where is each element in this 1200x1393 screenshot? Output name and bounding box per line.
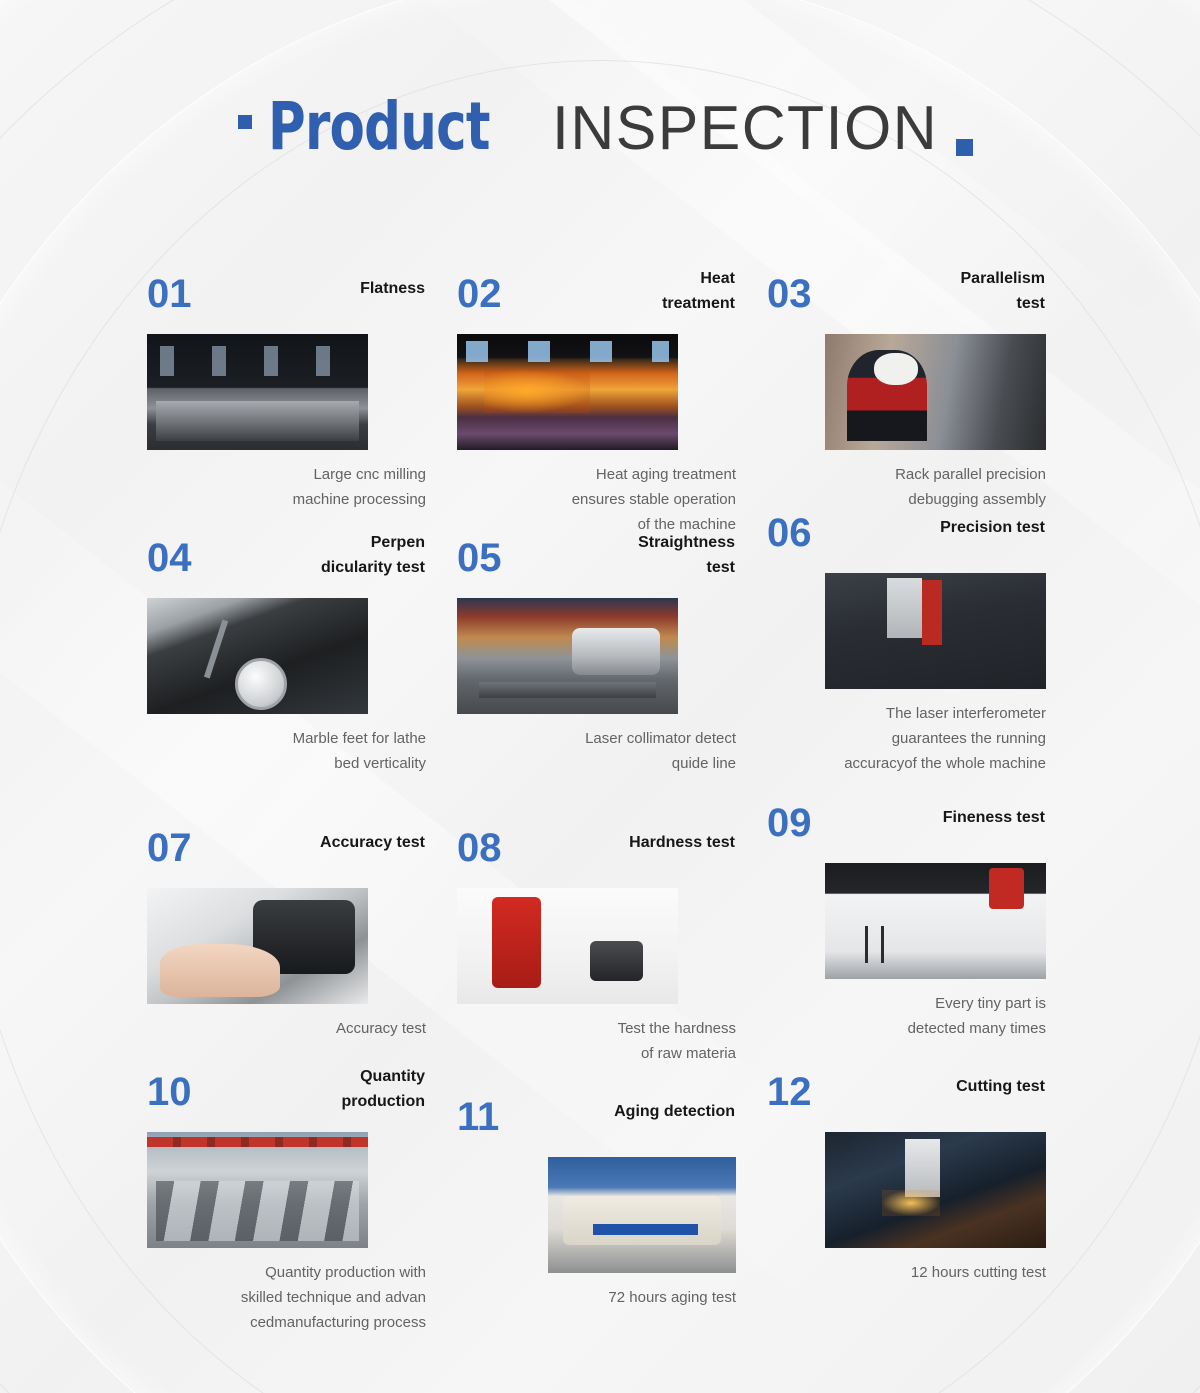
card-number: 03: [767, 272, 812, 316]
card-caption: 12 hours cutting test: [816, 1248, 1046, 1285]
card-caption: Marble feet for lathe bed verticality: [196, 714, 426, 776]
card-header: 04 Perpen dicularity test: [135, 536, 445, 598]
card-title: Hardness test: [545, 830, 735, 855]
inspection-card[interactable]: 06 Precision test The laser interferomet…: [755, 511, 1065, 776]
page-title: Product INSPECTION: [232, 92, 973, 162]
card-header: 01 Flatness: [135, 272, 445, 334]
card-header: 11 Aging detection: [445, 1095, 755, 1157]
card-photo[interactable]: [825, 1132, 1046, 1248]
card-caption: The laser interferometer guarantees the …: [816, 689, 1046, 776]
inspection-card[interactable]: 02 Heat treatment Heat aging treatment e…: [445, 272, 755, 537]
title-thin-word: INSPECTION: [552, 96, 938, 162]
card-number: 10: [147, 1070, 192, 1114]
inspection-card[interactable]: 04 Perpen dicularity test Marble feet fo…: [135, 536, 445, 776]
card-number: 12: [767, 1070, 812, 1114]
card-title: Precision test: [855, 515, 1045, 540]
card-caption: Heat aging treatment ensures stable oper…: [506, 450, 736, 537]
inspection-card-grid: 01 Flatness Large cnc milling machine pr…: [0, 272, 1200, 1335]
card-title: Quantity production: [235, 1064, 425, 1114]
page-header: Product INSPECTION: [0, 0, 1200, 250]
card-title: Fineness test: [855, 805, 1045, 830]
card-title: Accuracy test: [235, 830, 425, 855]
grid-column-2: 02 Heat treatment Heat aging treatment e…: [445, 272, 755, 1335]
card-title: Straightness test: [545, 530, 735, 580]
card-number: 05: [457, 536, 502, 580]
card-caption: Rack parallel precision debugging assemb…: [816, 450, 1046, 512]
card-title: Cutting test: [855, 1074, 1045, 1099]
card-number: 02: [457, 272, 502, 316]
card-header: 03 Parallelism test: [755, 272, 1065, 334]
inspection-card[interactable]: 12 Cutting test 12 hours cutting test: [755, 1070, 1065, 1285]
card-title: Perpen dicularity test: [235, 530, 425, 580]
card-header: 02 Heat treatment: [445, 272, 755, 334]
card-photo[interactable]: [825, 334, 1046, 450]
card-caption: Every tiny part is detected many times: [816, 979, 1046, 1041]
card-photo[interactable]: [457, 888, 678, 1004]
square-accent-icon: [956, 139, 973, 156]
card-photo[interactable]: [825, 573, 1046, 689]
inspection-card[interactable]: 08 Hardness test Test the hardness of ra…: [445, 826, 755, 1066]
inspection-card[interactable]: 09 Fineness test Every tiny part is dete…: [755, 801, 1065, 1041]
card-header: 06 Precision test: [755, 511, 1065, 573]
card-photo[interactable]: [147, 334, 368, 450]
card-photo[interactable]: [548, 1157, 736, 1273]
card-title: Flatness: [235, 276, 425, 301]
card-caption: Quantity production with skilled techniq…: [196, 1248, 426, 1335]
card-header: 10 Quantity production: [135, 1070, 445, 1132]
grid-column-1: 01 Flatness Large cnc milling machine pr…: [135, 272, 445, 1335]
card-header: 07 Accuracy test: [135, 826, 445, 888]
card-caption: Test the hardness of raw materia: [506, 1004, 736, 1066]
card-caption: Accuracy test: [196, 1004, 426, 1041]
card-photo[interactable]: [147, 888, 368, 1004]
inspection-card[interactable]: 07 Accuracy test Accuracy test: [135, 826, 445, 1041]
card-number: 06: [767, 511, 812, 555]
card-header: 09 Fineness test: [755, 801, 1065, 863]
card-caption: Laser collimator detect quide line: [506, 714, 736, 776]
inspection-card[interactable]: 03 Parallelism test Rack parallel precis…: [755, 272, 1065, 512]
card-title: Parallelism test: [855, 266, 1045, 316]
card-title: Heat treatment: [545, 266, 735, 316]
card-number: 11: [457, 1095, 499, 1139]
card-number: 04: [147, 536, 192, 580]
card-number: 09: [767, 801, 812, 845]
card-number: 08: [457, 826, 502, 870]
card-header: 12 Cutting test: [755, 1070, 1065, 1132]
card-number: 07: [147, 826, 192, 870]
title-bold-word: Product: [268, 92, 490, 162]
grid-column-3: 03 Parallelism test Rack parallel precis…: [755, 272, 1065, 1335]
inspection-card[interactable]: 01 Flatness Large cnc milling machine pr…: [135, 272, 445, 512]
card-title: Aging detection: [545, 1099, 735, 1124]
card-caption: 72 hours aging test: [506, 1273, 736, 1310]
card-photo[interactable]: [457, 334, 678, 450]
card-photo[interactable]: [825, 863, 1046, 979]
inspection-card[interactable]: 10 Quantity production Quantity producti…: [135, 1070, 445, 1335]
card-caption: Large cnc milling machine processing: [196, 450, 426, 512]
card-header: 05 Straightness test: [445, 536, 755, 598]
inspection-card[interactable]: 05 Straightness test Laser collimator de…: [445, 536, 755, 776]
inspection-card[interactable]: 11 Aging detection 72 hours aging test: [445, 1095, 755, 1310]
card-photo[interactable]: [147, 1132, 368, 1248]
card-photo[interactable]: [457, 598, 678, 714]
card-number: 01: [147, 272, 192, 316]
card-header: 08 Hardness test: [445, 826, 755, 888]
card-photo[interactable]: [147, 598, 368, 714]
square-accent-icon: [238, 115, 252, 129]
